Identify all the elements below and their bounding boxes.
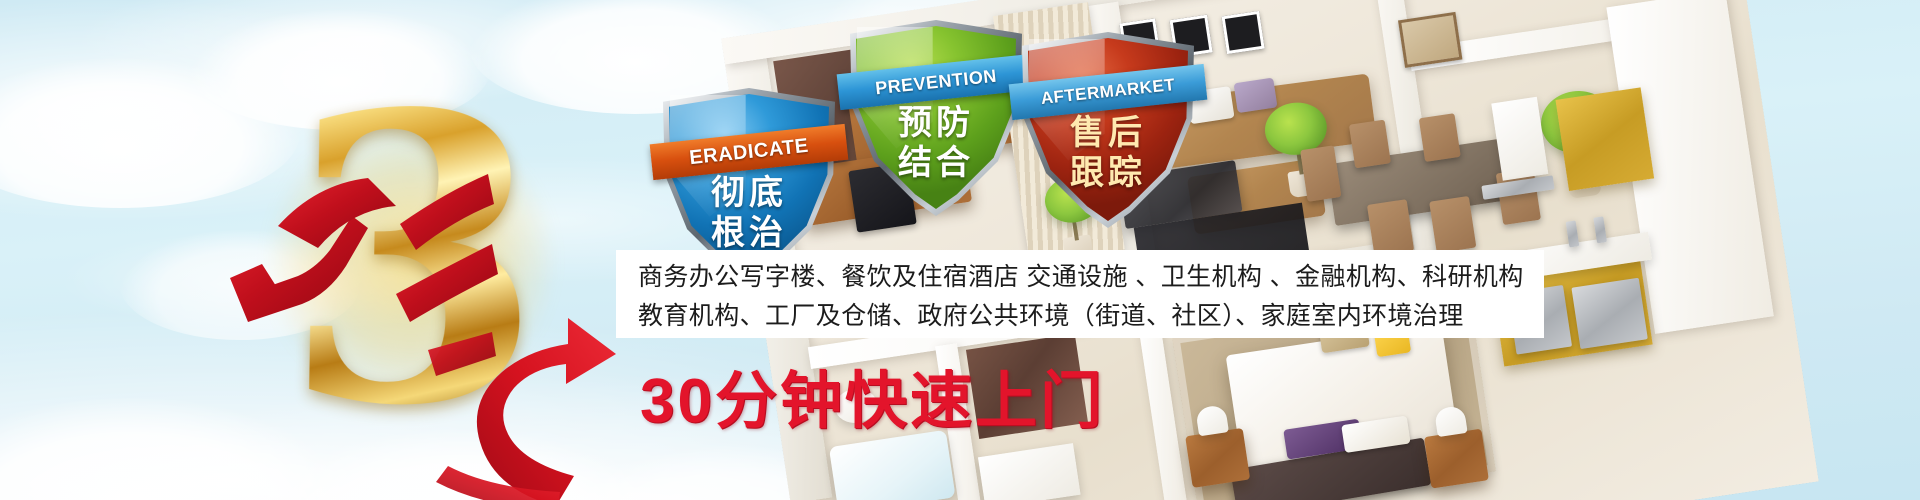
shield-badge-prevention: PREVENTION 预防 结合 <box>850 20 1022 216</box>
shield-banner-label: PREVENTION <box>874 65 998 99</box>
cooktop <box>1571 278 1647 349</box>
shield-cn-line1: 预防 <box>850 106 1022 142</box>
shield-banner-label: ERADICATE <box>688 134 809 169</box>
shield-cn-line2: 根治 <box>663 216 835 252</box>
promo-banner: 3 <box>0 0 1920 500</box>
shield-banner-label: AFTERMARKET <box>1040 75 1176 109</box>
wall-art-frame <box>1221 11 1264 54</box>
kitchen-upper-cabinet <box>1555 87 1654 191</box>
shield-cn-line1: 售后 <box>1022 116 1194 152</box>
numeral-glyph: 3 <box>243 86 579 436</box>
dining-chair <box>1429 196 1476 253</box>
dining-chair <box>1349 120 1391 169</box>
sofa-cushion <box>1234 78 1278 114</box>
shield-cn-line2: 结合 <box>850 146 1022 182</box>
wall-art-frame <box>1398 12 1462 68</box>
hero-numeral-3: 3 <box>246 96 576 426</box>
service-scope-line-2: 教育机构、工厂及仓储、政府公共环境（街道、社区）、家庭室内环境治理 <box>638 297 1544 336</box>
service-scope-line-1: 商务办公写字楼、餐饮及住宿酒店 交通设施 、卫生机构 、金融机构、科研机构 <box>638 258 1544 297</box>
nightstand <box>1424 429 1489 489</box>
dining-chair <box>1367 199 1414 256</box>
shield-badge-aftermarket: AFTERMARKET 售后 跟踪 <box>1022 32 1194 228</box>
shield-cn-line2: 跟踪 <box>1022 156 1194 192</box>
shield-cn-line1: 彻底 <box>663 176 835 212</box>
nightstand <box>1185 428 1250 488</box>
headline-text: 30分钟快速上门 <box>640 350 1105 440</box>
service-scope-panel: 商务办公写字楼、餐饮及住宿酒店 交通设施 、卫生机构 、金融机构、科研机构 教育… <box>616 250 1544 338</box>
dining-chair <box>1419 113 1461 162</box>
